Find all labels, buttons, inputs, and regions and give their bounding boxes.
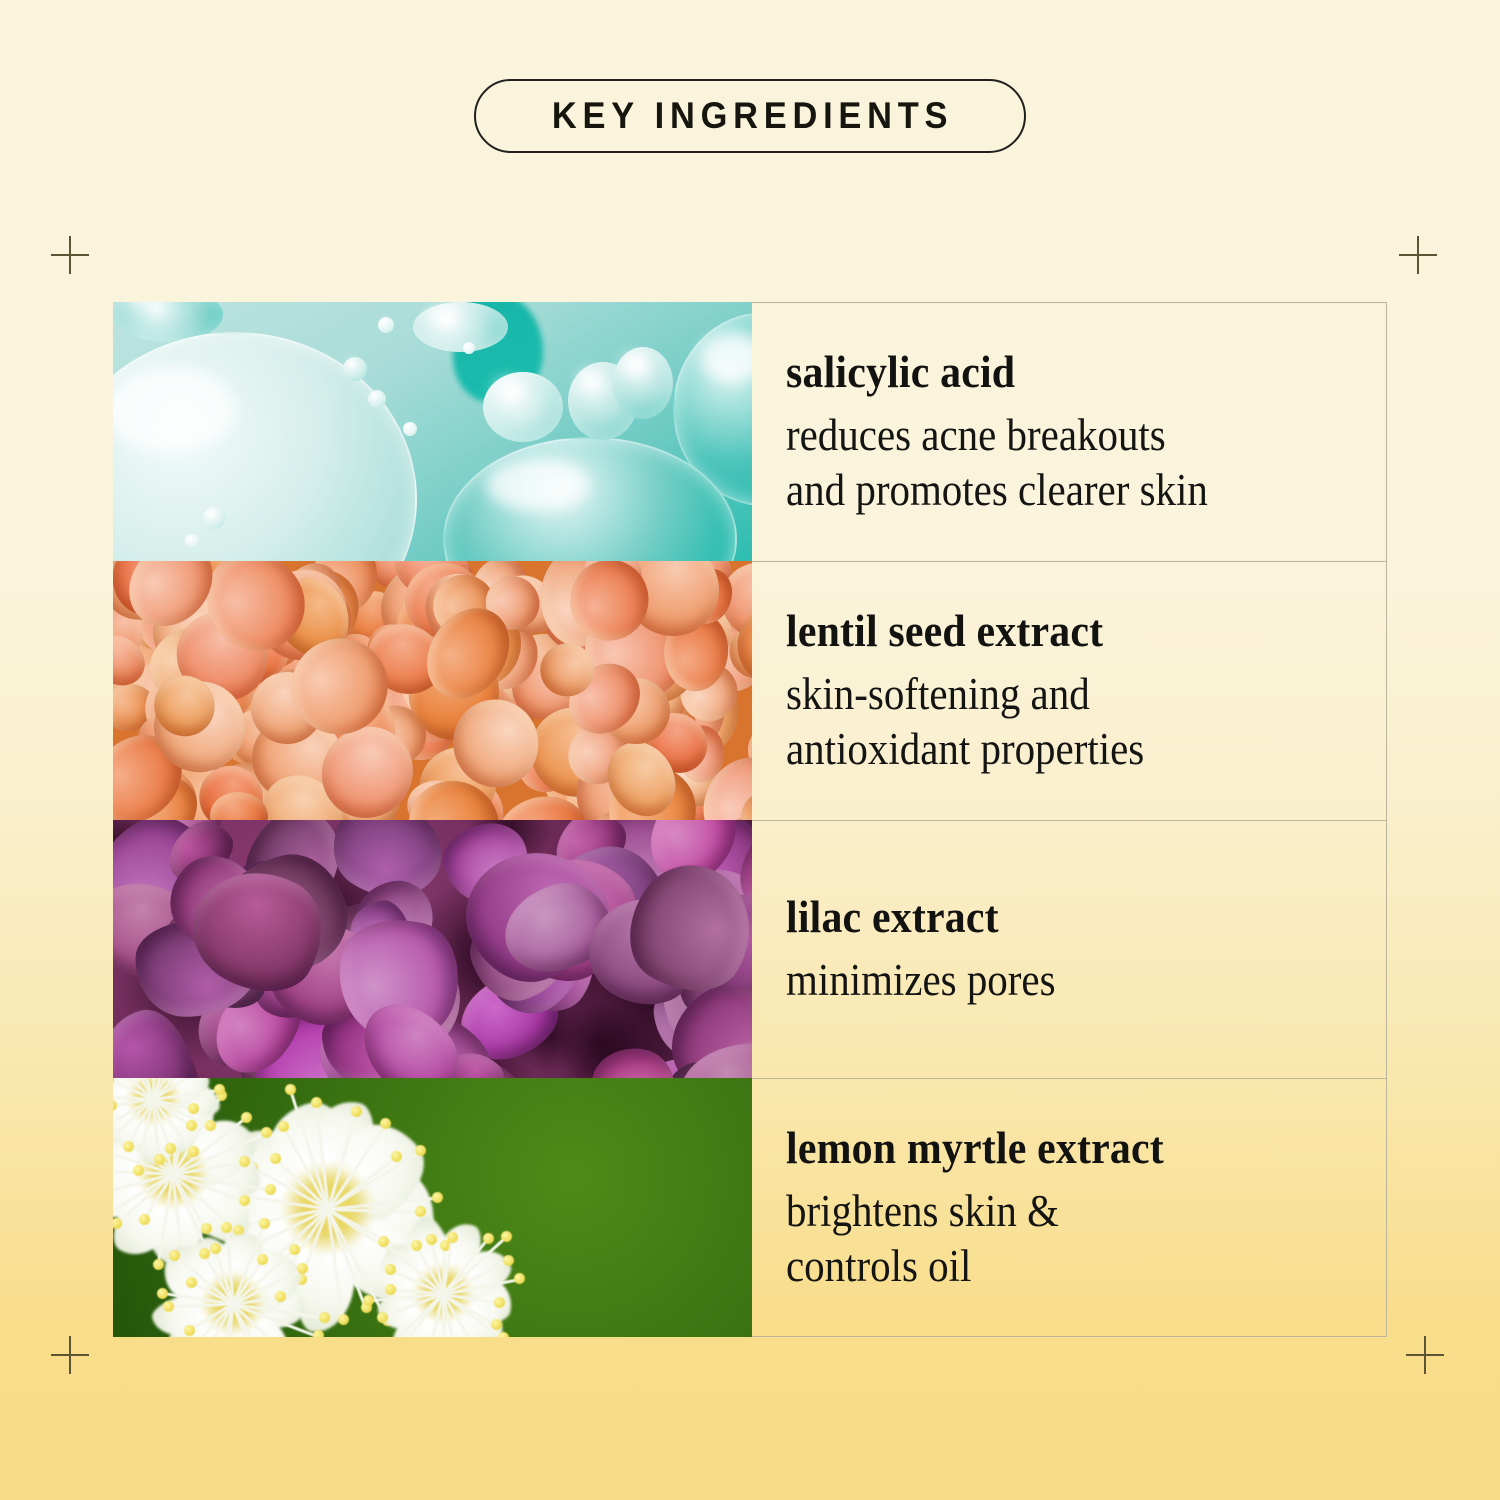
decor-anther	[363, 1295, 374, 1306]
decor-bubble	[113, 332, 417, 561]
ingredient-row: lilac extract minimizes pores	[113, 820, 1387, 1079]
ingredient-row: lemon myrtle extract brightens skin & co…	[113, 1078, 1387, 1337]
decor-anther	[201, 1223, 212, 1234]
decor-anther	[210, 1243, 221, 1254]
decor-anther	[257, 1254, 268, 1265]
decor-anther	[285, 1084, 296, 1095]
ingredient-row: salicylic acid reduces acne breakouts an…	[113, 302, 1387, 561]
decor-anther	[313, 1330, 324, 1337]
ingredient-text-panel: salicylic acid reduces acne breakouts an…	[752, 302, 1387, 561]
ingredient-name: salicylic acid	[786, 346, 1344, 398]
ingredient-name: lentil seed extract	[786, 605, 1344, 657]
decor-anther	[239, 1156, 250, 1167]
plus-mark-top-left-icon	[51, 236, 89, 274]
ingredient-description: minimizes pores	[786, 953, 1332, 1008]
decor-anther	[186, 1120, 197, 1131]
decor-anther	[411, 1240, 422, 1251]
decor-anther	[199, 1248, 210, 1259]
decor-anther	[503, 1255, 514, 1266]
decor-bubble	[185, 534, 199, 548]
plus-mark-top-right-icon	[1399, 236, 1437, 274]
decor-bubble	[378, 317, 394, 333]
decor-bubble	[413, 302, 508, 352]
decor-bubble	[403, 422, 417, 436]
decor-anther	[415, 1145, 426, 1156]
decor-anther	[385, 1284, 396, 1295]
decor-anther	[154, 1154, 165, 1165]
page-title: KEY INGREDIENTS	[547, 95, 954, 137]
page-title-badge: KEY INGREDIENTS	[474, 79, 1026, 153]
decor-anther	[338, 1314, 349, 1325]
ingredient-text-panel: lemon myrtle extract brightens skin & co…	[752, 1078, 1387, 1337]
ingredient-row: lentil seed extract skin-softening and a…	[113, 561, 1387, 820]
decor-anther	[514, 1273, 525, 1284]
ingredient-image-bubbles	[113, 302, 752, 561]
ingredient-name: lilac extract	[786, 891, 1344, 943]
decor-anther	[432, 1192, 443, 1203]
decor-anther	[265, 1184, 276, 1195]
ingredient-name: lemon myrtle extract	[786, 1122, 1344, 1174]
decor-anther	[188, 1146, 199, 1157]
decor-bubble	[613, 347, 673, 419]
decor-anther	[169, 1250, 180, 1261]
decor-anther	[184, 1325, 195, 1336]
decor-bubble	[343, 357, 367, 381]
decor-anther	[123, 1141, 134, 1152]
plus-mark-bottom-left-icon	[51, 1336, 89, 1374]
ingredient-image-lilac	[113, 820, 752, 1079]
decor-anther	[241, 1112, 252, 1123]
ingredient-description: skin-softening and antioxidant propertie…	[786, 667, 1332, 777]
decor-bubble	[203, 507, 225, 529]
decor-anther	[157, 1288, 168, 1299]
decor-anther	[186, 1277, 197, 1288]
decor-bubble	[483, 372, 563, 442]
decor-anther	[501, 1231, 512, 1242]
decor-anther	[153, 1259, 164, 1270]
ingredient-image-lentils	[113, 561, 752, 820]
plus-mark-bottom-right-icon	[1406, 1336, 1444, 1374]
decor-anther	[483, 1233, 494, 1244]
decor-anther	[289, 1244, 300, 1255]
decor-anther	[297, 1263, 308, 1274]
ingredients-table: salicylic acid reduces acne breakouts an…	[113, 302, 1387, 1337]
key-ingredients-infographic: KEY INGREDIENTS	[0, 0, 1500, 1500]
ingredient-text-panel: lentil seed extract skin-softening and a…	[752, 561, 1387, 820]
decor-anther	[498, 1332, 509, 1337]
decor-anther	[259, 1218, 270, 1229]
decor-bubble	[368, 390, 386, 408]
ingredient-text-panel: lilac extract minimizes pores	[752, 820, 1387, 1079]
ingredient-description: reduces acne breakouts and promotes clea…	[786, 408, 1332, 518]
ingredient-image-myrtle	[113, 1078, 752, 1337]
decor-anther	[165, 1143, 176, 1154]
decor-bubble	[463, 342, 475, 354]
decor-anther	[494, 1297, 505, 1308]
ingredient-description: brightens skin & controls oil	[786, 1184, 1332, 1294]
decor-anther	[447, 1232, 458, 1243]
decor-anther	[377, 1312, 388, 1323]
